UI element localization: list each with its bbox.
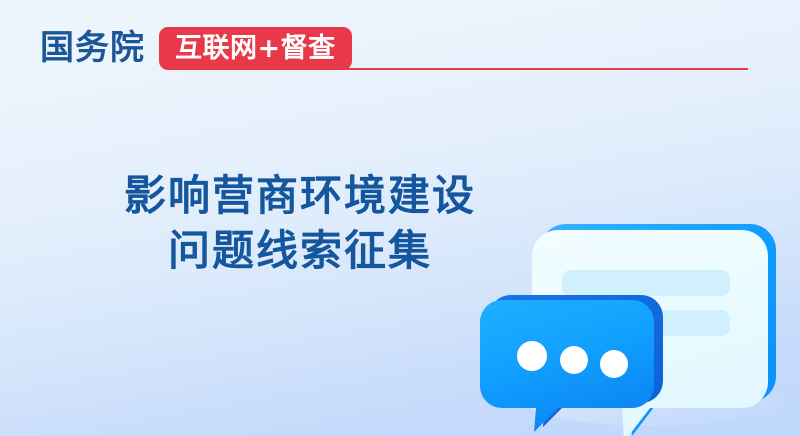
- front-bubble-dot-1: [517, 341, 547, 371]
- internet-plus-supervision-badge[interactable]: 互联网+督查: [159, 27, 352, 70]
- masthead-divider-rule: [330, 68, 748, 70]
- banner-root: 国务院 互联网+督查 影响营商环境建设 问题线索征集: [0, 0, 800, 436]
- page-title: 影响营商环境建设 问题线索征集: [60, 168, 540, 279]
- back-bubble-text-line-1: [562, 270, 730, 296]
- badge-label: 互联网+督查: [175, 35, 336, 62]
- gov-council-label: 国务院: [40, 31, 145, 65]
- page-title-line-2: 问题线索征集: [60, 223, 540, 278]
- masthead: 国务院 互联网+督查: [40, 24, 352, 72]
- front-bubble-dot-2: [560, 346, 588, 374]
- page-title-line-1: 影响营商环境建设: [60, 168, 540, 223]
- front-bubble-dot-3: [600, 350, 628, 378]
